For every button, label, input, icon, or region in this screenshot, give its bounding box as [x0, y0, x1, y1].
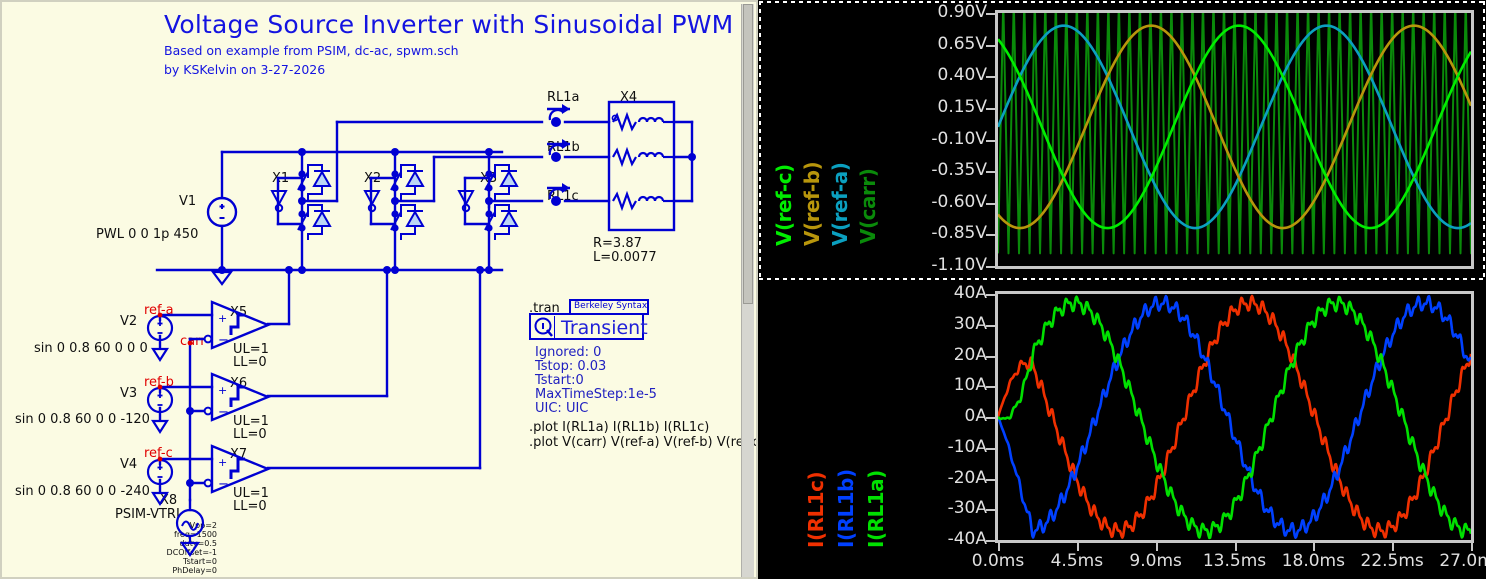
legend-v-ref-c[interactable]: V(ref-c) [772, 36, 796, 246]
y-tick-label: -30A [878, 498, 987, 518]
v3-ref: V3 [120, 386, 137, 401]
current-probe-rl1a [547, 104, 570, 127]
y-tick-mark [986, 266, 995, 268]
y-tick-label: -0.85V [878, 223, 987, 243]
y-tick-label: 30A [878, 314, 987, 334]
x7-ref: X7 [230, 447, 247, 462]
y-tick-mark [986, 13, 995, 15]
x3-ref: X3 [480, 171, 497, 186]
x-tick-label: 13.5ms [1193, 551, 1277, 571]
y-tick-label: -0.35V [878, 160, 987, 180]
v3-value: sin 0 0.8 60 0 0 -120 [15, 412, 150, 427]
y-tick-mark [986, 45, 995, 47]
x-tick-label: 18.0ms [1271, 551, 1355, 571]
y-tick-mark [986, 294, 995, 296]
x8-param-tstart: Tstart=0 [117, 557, 217, 566]
x6-ll: LL=0 [233, 427, 267, 442]
x8-param-phdelay: PhDelay=0 [117, 566, 217, 575]
y-tick-label: 10A [878, 375, 987, 395]
y-tick-mark [986, 479, 995, 481]
x8-model: PSIM-VTRI [115, 507, 180, 522]
y-tick-mark [986, 509, 995, 511]
load-block-x4 [609, 102, 696, 230]
y-tick-label: 0A [878, 406, 987, 426]
y-tick-mark [986, 540, 995, 542]
subtitle-author: by KSKelvin on 3-27-2026 [164, 62, 325, 77]
schematic-canvas[interactable]: Voltage Source Inverter with Sinusoidal … [2, 2, 746, 577]
x-tick-label: 0.0ms [956, 551, 1040, 571]
load-l-value: L=0.0077 [593, 250, 657, 265]
legend-i-rl1c[interactable]: I(RL1c) [804, 378, 828, 548]
y-tick-mark [986, 76, 995, 78]
voltage-plot-panel[interactable]: V(ref-c) V(ref-b) V(ref-a) V(carr) 0.90V… [758, 0, 1486, 281]
x5-ll: LL=0 [233, 355, 267, 370]
berkeley-syntax-label: Berkeley Syntax [574, 301, 647, 311]
x-tick-label: 4.5ms [1035, 551, 1119, 571]
y-tick-mark [986, 448, 995, 450]
legend-i-rl1a[interactable]: I(RL1a) [864, 378, 888, 548]
x-tick-label: 9.0ms [1114, 551, 1198, 571]
x5-ref: X5 [230, 305, 247, 320]
subtitle-source: Based on example from PSIM, dc-ac, spwm.… [164, 43, 459, 58]
net-ref-c: ref-c [144, 446, 173, 461]
y-tick-mark [986, 203, 995, 205]
svg-text:+: + [218, 312, 227, 325]
svg-text:+: + [218, 456, 227, 469]
voltage-graph-area[interactable] [995, 10, 1474, 269]
x8-param-duty: duty=0.5 [117, 539, 217, 548]
v2-ref: V2 [120, 314, 137, 329]
x4-ref: X4 [620, 90, 637, 105]
y-tick-label: -1.10V [878, 255, 987, 275]
net-carr: carr [180, 334, 206, 349]
magnifier-q-icon [533, 316, 555, 343]
v2-value: sin 0 0.8 60 0 0 0 [34, 341, 148, 356]
x1-ref: X1 [272, 171, 289, 186]
transient-button-label: Transient [561, 317, 648, 339]
svg-text:−: − [218, 405, 229, 420]
legend-i-rl1b[interactable]: I(RL1b) [834, 378, 858, 548]
svg-text:−: − [218, 477, 229, 492]
y-tick-label: 0.40V [878, 65, 987, 85]
x8-param-freq: freq=1500 [117, 530, 217, 539]
net-ref-a: ref-a [144, 303, 174, 318]
y-tick-mark [986, 171, 995, 173]
rl1b-label: RL1b [547, 140, 580, 155]
load-r-value: R=3.87 [593, 236, 642, 251]
x-tick-label: 22.5ms [1350, 551, 1434, 571]
y-tick-label: -10A [878, 437, 987, 457]
y-tick-label: -0.60V [878, 192, 987, 212]
y-tick-mark [986, 417, 995, 419]
current-graph-area[interactable] [995, 291, 1474, 543]
y-tick-label: -40A [878, 529, 987, 549]
x7-ll: LL=0 [233, 499, 267, 514]
waveform-viewer-pane: V(ref-c) V(ref-b) V(ref-a) V(carr) 0.90V… [758, 0, 1486, 579]
rl1a-label: RL1a [547, 90, 580, 105]
svg-text:+: + [218, 384, 227, 397]
schematic-scrollbar[interactable] [741, 4, 754, 579]
plot-command-voltages: .plot V(carr) V(ref-a) V(ref-b) V(ref-c) [529, 435, 758, 450]
y-tick-label: 0.65V [878, 34, 987, 54]
y-tick-mark [986, 386, 995, 388]
x6-ref: X6 [230, 376, 247, 391]
y-tick-label: 0.90V [878, 2, 987, 22]
schematic-pane[interactable]: Voltage Source Inverter with Sinusoidal … [0, 0, 758, 579]
v1-value: PWL 0 0 1p 450 [96, 227, 198, 242]
x8-ref: X8 [160, 493, 177, 508]
v3-source-symbol [148, 388, 172, 432]
v2-source-symbol [148, 316, 172, 360]
tran-maxtimestep: MaxTimeStep:1e-5 [535, 387, 657, 402]
application-window: Voltage Source Inverter with Sinusoidal … [0, 0, 1486, 579]
svg-text:−: − [218, 333, 229, 348]
y-tick-mark [986, 140, 995, 142]
tran-ignored: Ignored: 0 [535, 345, 601, 360]
x8-param-vpp: Vpp=2 [117, 521, 217, 530]
legend-v-ref-b[interactable]: V(ref-b) [800, 36, 824, 246]
y-tick-label: 0.15V [878, 97, 987, 117]
legend-v-ref-a[interactable]: V(ref-a) [828, 36, 852, 246]
v4-ref: V4 [120, 457, 137, 472]
net-ref-b: ref-b [144, 375, 174, 390]
page-title: Voltage Source Inverter with Sinusoidal … [164, 10, 733, 39]
v1-ref: V1 [179, 194, 196, 209]
x-tick-label: 27.0ms [1429, 551, 1486, 571]
voltage-waveforms [998, 13, 1471, 266]
y-tick-label: 20A [878, 345, 987, 365]
x8-param-dcoffset: DCOffset=-1 [117, 548, 217, 557]
current-waveforms [998, 294, 1471, 540]
tran-tstart: Tstart:0 [535, 373, 584, 388]
plot-command-currents: .plot I(RL1a) I(RL1b) I(RL1c) [529, 420, 709, 435]
legend-v-carr[interactable]: V(carr) [856, 44, 880, 244]
current-plot-panel[interactable]: I(RL1c) I(RL1b) I(RL1a) 40A30A20A10A0A-1… [758, 283, 1486, 579]
y-tick-mark [986, 108, 995, 110]
rl1c-label: RL1c [547, 189, 579, 204]
ground-symbol-v1 [213, 272, 231, 284]
y-tick-label: -0.10V [878, 129, 987, 149]
tran-uic: UIC: UIC [535, 401, 588, 416]
scrollbar-thumb[interactable] [743, 4, 753, 304]
y-tick-label: -20A [878, 468, 987, 488]
y-tick-label: 40A [878, 283, 987, 303]
y-tick-mark [986, 356, 995, 358]
y-tick-mark [986, 325, 995, 327]
v1-source-symbol [208, 198, 236, 226]
x2-ref: X2 [364, 171, 381, 186]
tran-tstop: Tstop: 0.03 [535, 359, 606, 374]
v4-value: sin 0 0.8 60 0 0 -240 [15, 484, 150, 499]
transient-button[interactable]: Transient [529, 313, 644, 340]
y-tick-mark [986, 234, 995, 236]
